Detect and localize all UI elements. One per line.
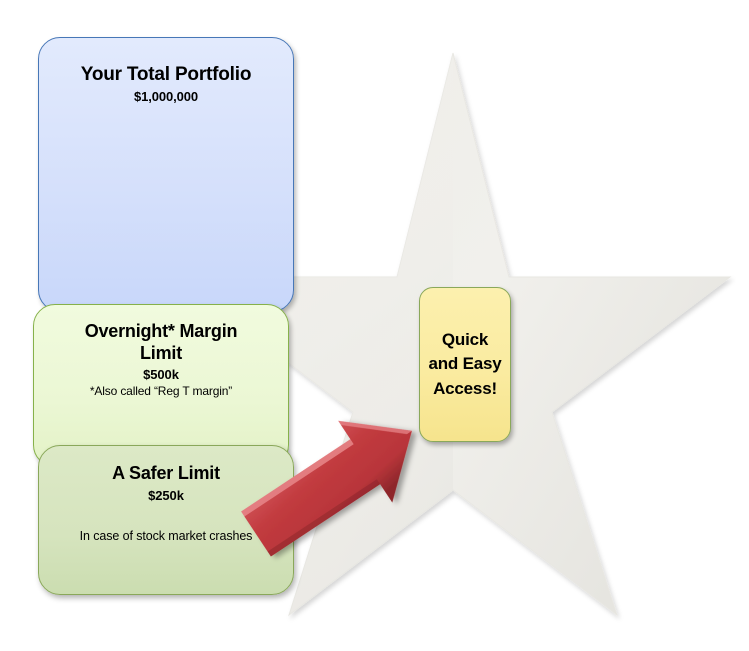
safer-title: A Safer Limit bbox=[39, 463, 293, 485]
safer-note: In case of stock market crashes bbox=[39, 529, 293, 543]
portfolio-title: Your Total Portfolio bbox=[39, 64, 293, 86]
slide-canvas: Your Total Portfolio $1,000,000 Overnigh… bbox=[0, 0, 749, 651]
overnight-title-line-1: Overnight* Margin bbox=[34, 321, 288, 343]
overnight-amount: $500k bbox=[34, 367, 288, 382]
box-safer-limit[interactable]: A Safer Limit $250k In case of stock mar… bbox=[38, 445, 294, 595]
box-quick-and-easy-access[interactable]: Quick and Easy Access! bbox=[419, 287, 511, 442]
overnight-title-line-2: Limit bbox=[34, 343, 288, 365]
box-total-portfolio[interactable]: Your Total Portfolio $1,000,000 bbox=[38, 37, 294, 312]
safer-amount: $250k bbox=[39, 488, 293, 503]
box-overnight-margin-limit[interactable]: Overnight* Margin Limit $500k *Also call… bbox=[33, 304, 289, 467]
portfolio-amount: $1,000,000 bbox=[39, 89, 293, 104]
quick-access-line-3: Access! bbox=[428, 377, 501, 402]
overnight-footnote: *Also called “Reg T margin” bbox=[34, 384, 288, 398]
quick-access-text: Quick and Easy Access! bbox=[424, 328, 505, 402]
quick-access-line-2: and Easy bbox=[428, 352, 501, 377]
quick-access-line-1: Quick bbox=[428, 328, 501, 353]
